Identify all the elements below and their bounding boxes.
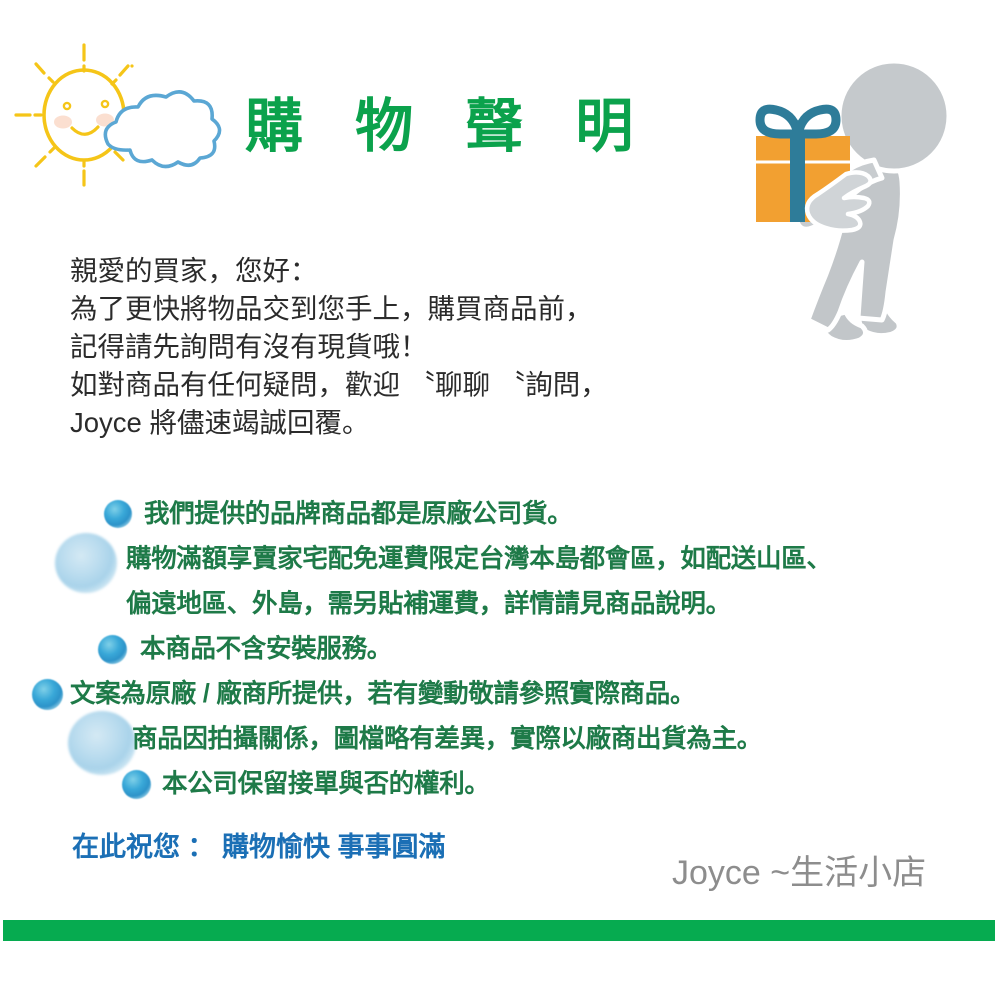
list-item: 購物滿額享賣家宅配免運費限定台灣本島都會區，如配送山區、 — [0, 537, 1000, 582]
greeting-line-3: 記得請先詢問有沒有現貨哦！ — [70, 328, 770, 366]
bullet-icon — [32, 679, 63, 710]
list-item: 文案為原廠 / 廠商所提供，若有變動敬請參照實際商品。 — [0, 672, 1000, 717]
list-item: 我們提供的品牌商品都是原廠公司貨。 — [0, 492, 1000, 537]
bullet-icon — [122, 770, 151, 799]
note-text: 本商品不含安裝服務。 — [140, 627, 392, 672]
note-text: 我們提供的品牌商品都是原廠公司貨。 — [144, 492, 572, 537]
list-item: 本商品不含安裝服務。 — [0, 627, 1000, 672]
note-text: 文案為原廠 / 廠商所提供，若有變動敬請參照實際商品。 — [70, 672, 695, 717]
note-text: 偏遠地區、外島，需另貼補運費，詳情請見商品說明。 — [126, 582, 731, 627]
greeting-line-5: Joyce 將儘速竭誠回覆。 — [70, 404, 770, 442]
list-item: 商品因拍攝關係，圖檔略有差異，實際以廠商出貨為主。 — [0, 717, 1000, 762]
header: 購 物 聲 明 — [0, 0, 1000, 250]
bullet-icon — [98, 635, 127, 664]
greeting-block: 親愛的買家，您好： 為了更快將物品交到您手上，購買商品前， 記得請先詢問有沒有現… — [70, 252, 770, 442]
wish-message: 在此祝您 ： 購物愉快 事事圓滿 — [72, 825, 446, 864]
note-text: 本公司保留接單與否的權利。 — [162, 762, 490, 807]
list-item: 本公司保留接單與否的權利。 — [0, 762, 1000, 807]
person-carrying-gift-illustration — [742, 58, 982, 348]
bullet-icon — [104, 500, 132, 528]
note-text: 商品因拍攝關係，圖檔略有差異，實際以廠商出貨為主。 — [132, 717, 762, 762]
sun-cloud-svg — [8, 40, 238, 205]
page-title: 購 物 聲 明 — [245, 98, 651, 156]
greeting-line-1: 親愛的買家，您好： — [70, 252, 770, 290]
note-text: 購物滿額享賣家宅配免運費限定台灣本島都會區，如配送山區、 — [126, 537, 832, 582]
greeting-line-2: 為了更快將物品交到您手上，購買商品前， — [70, 290, 770, 328]
gift-person-svg — [742, 58, 982, 348]
sun-cloud-illustration — [8, 40, 238, 205]
greeting-line-4: 如對商品有任何疑問，歡迎 〝聊聊 〝詢問， — [70, 366, 770, 404]
bottom-accent-bar — [3, 920, 995, 941]
shopping-statement-banner: 購 物 聲 明 — [0, 0, 1000, 1000]
sun-cheek-left-icon — [54, 116, 72, 129]
sun-smile-icon — [72, 127, 98, 134]
sun-eye-right-icon — [102, 101, 108, 107]
shop-signature: Joyce ~生活小店 — [672, 845, 926, 894]
sun-eye-left-icon — [64, 103, 70, 109]
notes-list: 我們提供的品牌商品都是原廠公司貨。 購物滿額享賣家宅配免運費限定台灣本島都會區，… — [0, 492, 1000, 792]
list-item: 偏遠地區、外島，需另貼補運費，詳情請見商品說明。 — [0, 582, 1000, 627]
